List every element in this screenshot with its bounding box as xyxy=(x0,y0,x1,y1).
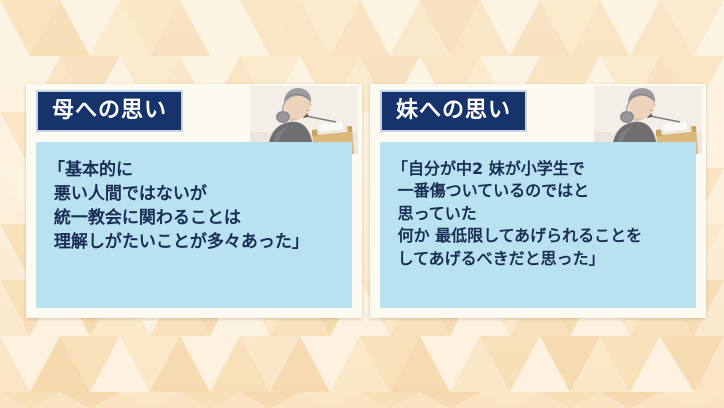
card-banner-mother: 母への思い xyxy=(36,90,183,132)
quote-card-sister: 妹への思い xyxy=(370,84,706,318)
quote-panel-sister: 「自分が中2 妹が小学生で 一番傷ついているのではと 思っていた 何か 最低限し… xyxy=(380,142,696,308)
quote-card-mother: 母への思い xyxy=(26,84,362,318)
card-banner-label: 母への思い xyxy=(52,100,167,122)
card-banner-label: 妹への思い xyxy=(396,100,511,122)
quote-text-sister: 「自分が中2 妹が小学生で 一番傷ついているのではと 思っていた 何か 最低限し… xyxy=(392,158,686,270)
quote-panel-mother: 「基本的に 悪い人間ではないが 統一教会に関わることは 理解しがたいことが多々あ… xyxy=(36,142,352,308)
slide-container: 母への思い xyxy=(0,0,724,408)
quote-text-mother: 「基本的に 悪い人間ではないが 統一教会に関わることは 理解しがたいことが多々あ… xyxy=(48,158,342,255)
card-banner-sister: 妹への思い xyxy=(380,90,527,132)
